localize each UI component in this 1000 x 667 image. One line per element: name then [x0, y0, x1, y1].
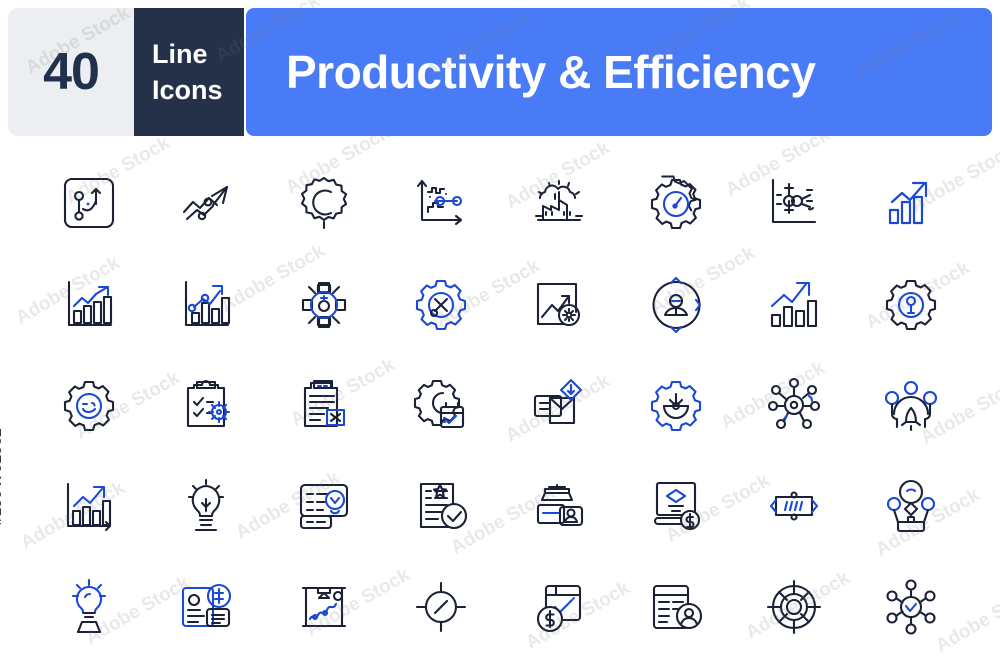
icon-grid	[30, 152, 970, 657]
bar-chart-line-arrow-icon[interactable]	[30, 253, 148, 354]
gear-calendar-check-icon[interactable]	[383, 354, 501, 455]
icon-count-badge: 40	[8, 8, 134, 136]
asset-id-label: #1504792962	[0, 428, 5, 525]
presentation-value-icon[interactable]	[618, 455, 736, 556]
document-verified-icon[interactable]	[383, 455, 501, 556]
board-chart-presentation-icon[interactable]	[265, 556, 383, 657]
team-launch-icon[interactable]	[853, 354, 971, 455]
collection-title-bar: Productivity & Efficiency	[246, 8, 992, 136]
icon-count-value: 40	[43, 46, 99, 98]
bulb-stamp-innovation-icon[interactable]	[30, 556, 148, 657]
gear-idea-person-icon[interactable]	[853, 253, 971, 354]
document-user-profile-icon[interactable]	[618, 556, 736, 657]
checklist-approve-icon[interactable]	[265, 455, 383, 556]
gear-smiley-icon[interactable]	[30, 354, 148, 455]
desk-employee-badge-icon[interactable]	[500, 455, 618, 556]
scatter-trend-chart-icon[interactable]	[383, 152, 501, 253]
icon-style-label: Line Icons	[134, 8, 244, 136]
profile-card-info-icon[interactable]	[148, 556, 266, 657]
factory-gears-icon[interactable]	[500, 152, 618, 253]
card-send-icon[interactable]	[500, 354, 618, 455]
team-cycle-icon[interactable]	[618, 253, 736, 354]
gear-target-icon[interactable]	[618, 354, 736, 455]
network-hub-icon[interactable]	[735, 354, 853, 455]
finance-approval-icon[interactable]	[500, 556, 618, 657]
document-edit-icon[interactable]	[265, 354, 383, 455]
bar-chart-trend-icon[interactable]	[30, 455, 148, 556]
bar-chart-upward-arrow-icon[interactable]	[735, 253, 853, 354]
gear-gauge-icon[interactable]	[618, 152, 736, 253]
gear-person-small-icon[interactable]	[265, 253, 383, 354]
network-analysis-chart-icon[interactable]	[735, 152, 853, 253]
network-check-hub-icon[interactable]	[853, 556, 971, 657]
collection-title: Productivity & Efficiency	[286, 45, 815, 99]
strategy-flow-framed-icon[interactable]	[30, 152, 148, 253]
target-focus-icon[interactable]	[735, 556, 853, 657]
growth-arrow-nodes-icon[interactable]	[148, 152, 266, 253]
report-growth-settings-icon[interactable]	[500, 253, 618, 354]
icon-style-line1: Line	[152, 36, 208, 72]
dial-meter-icon[interactable]	[383, 556, 501, 657]
header-banner: 40 Line Icons Productivity & Efficiency	[8, 8, 992, 136]
presenter-person-icon[interactable]	[853, 455, 971, 556]
bar-chart-growth-arrow-icon[interactable]	[853, 152, 971, 253]
process-flow-box-icon[interactable]	[735, 455, 853, 556]
gear-progress-icon[interactable]	[265, 152, 383, 253]
gear-tools-settings-icon[interactable]	[383, 253, 501, 354]
checklist-gear-icon[interactable]	[148, 354, 266, 455]
bar-chart-points-arrow-icon[interactable]	[148, 253, 266, 354]
lightbulb-idea-icon[interactable]	[148, 455, 266, 556]
icon-style-line2: Icons	[152, 72, 223, 108]
